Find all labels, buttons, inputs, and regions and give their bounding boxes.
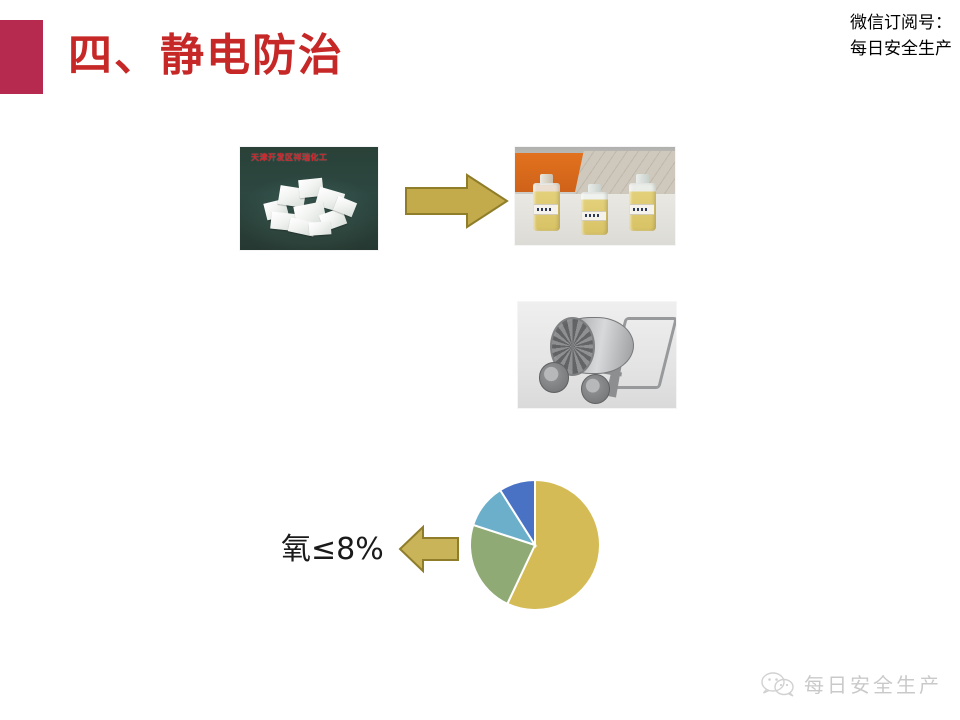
wechat-note-line2: 每日安全生产 (850, 36, 952, 62)
right-arrow-icon (404, 172, 509, 230)
page-title: 四、静电防治 (68, 26, 344, 86)
sample-bottle-3 (629, 174, 656, 231)
photo-portable-blower (518, 302, 676, 408)
footer-watermark: 每日安全生产 (761, 669, 942, 698)
pie-chart-svg (468, 478, 602, 612)
left-arrow-icon (398, 524, 460, 574)
photo-raw-material-flakes: 天津开发区祥瑞化工 (240, 147, 378, 250)
wechat-icon (761, 671, 795, 697)
flake-pile-graphic (259, 174, 358, 238)
blower-wheel-left (539, 362, 569, 393)
title-accent-block (0, 20, 43, 94)
blower-wheel-right (581, 374, 610, 404)
sample-bottle-2 (581, 184, 608, 235)
photo-watermark-text: 天津开发区祥瑞化工 (251, 152, 328, 163)
wechat-note-line1: 微信订阅号： (850, 10, 952, 36)
wechat-subscription-note: 微信订阅号： 每日安全生产 (850, 10, 952, 62)
sample-bottle-1 (533, 174, 560, 231)
oxygen-limit-label: 氧≤8% (281, 524, 384, 568)
photo-liquid-samples (515, 147, 675, 245)
slide-canvas: 四、静电防治 微信订阅号： 每日安全生产 天津开发区祥瑞化工 (0, 0, 960, 720)
pie-chart (468, 478, 602, 612)
footer-brand-text: 每日安全生产 (804, 669, 942, 698)
